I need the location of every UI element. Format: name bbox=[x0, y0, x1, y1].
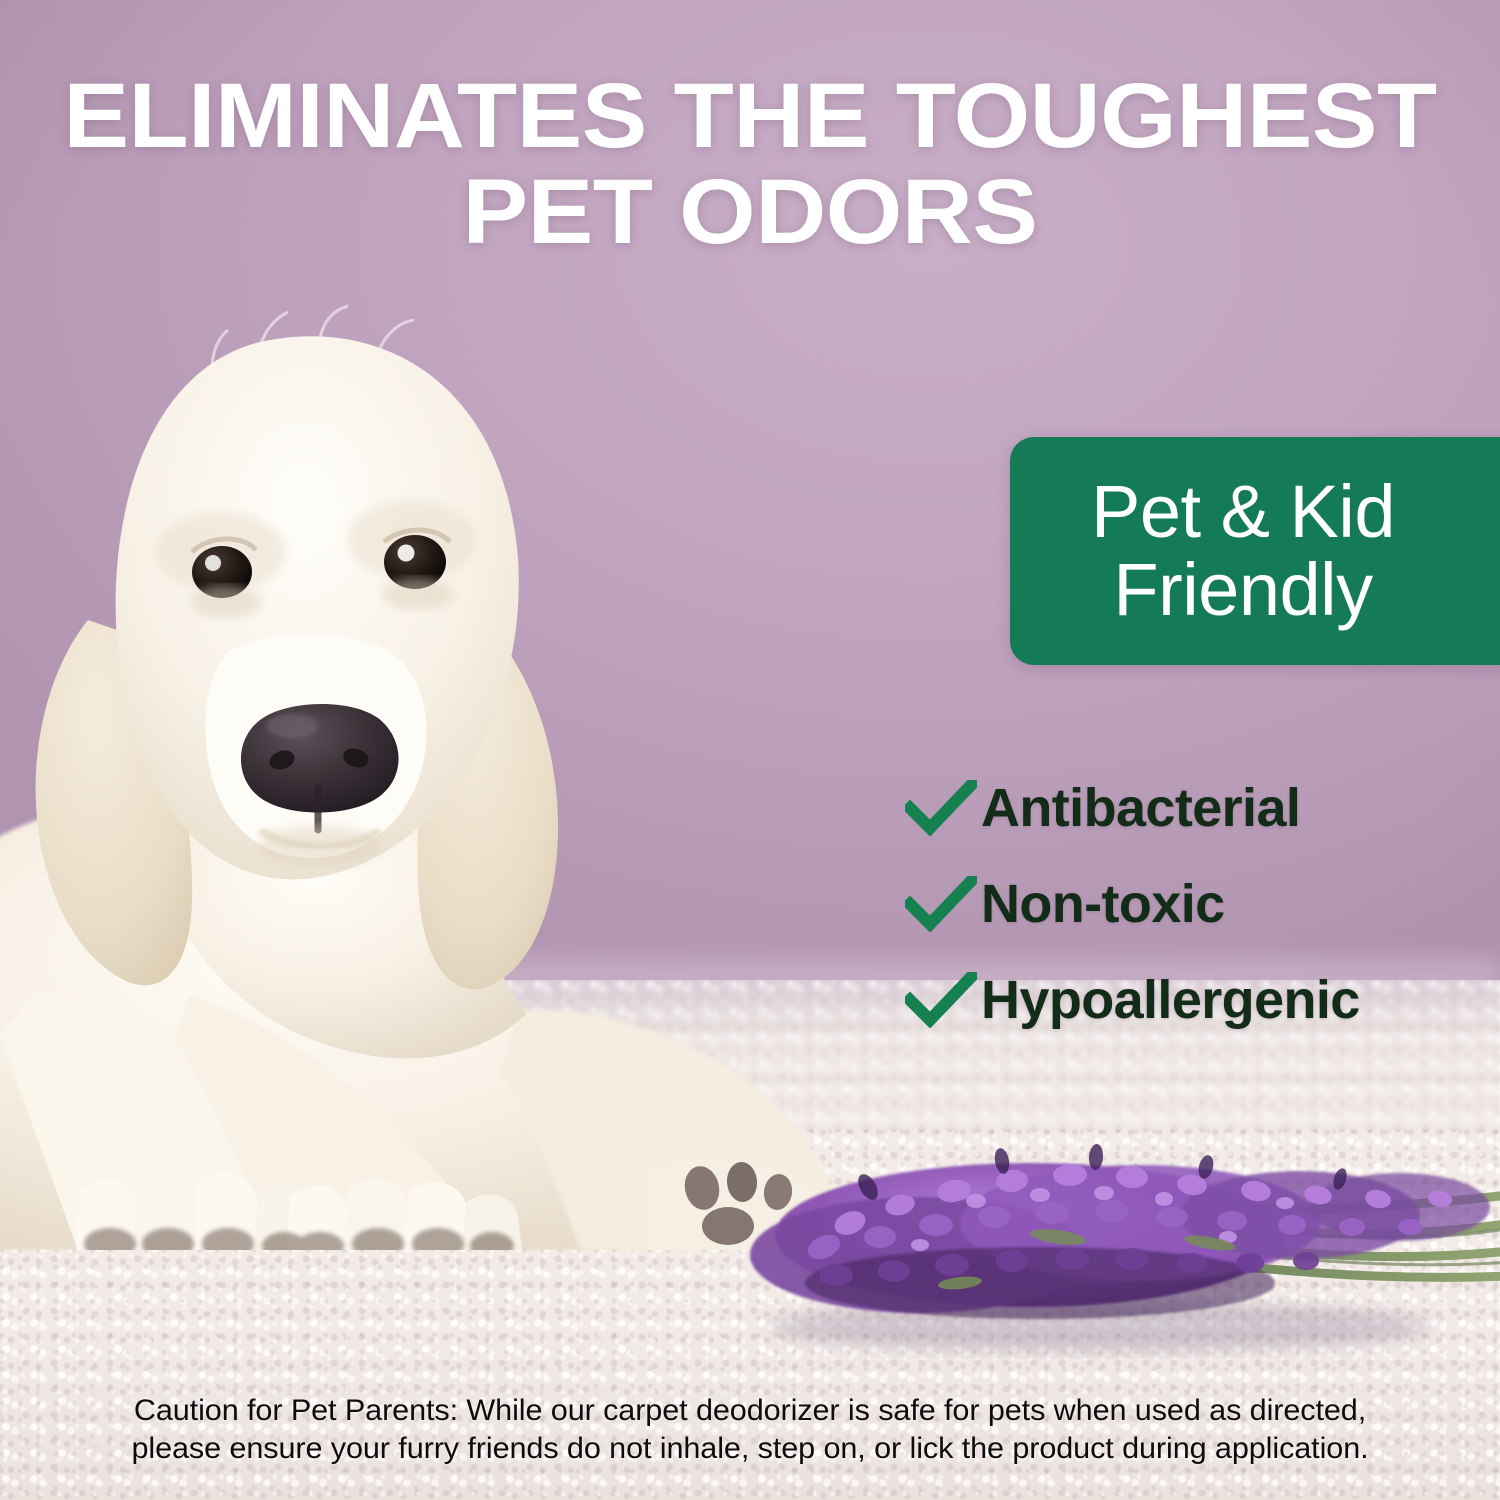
badge-line-2: Friendly bbox=[1091, 551, 1395, 629]
checkmark-icon bbox=[905, 876, 981, 932]
pet-kid-friendly-badge: Pet & Kid Friendly bbox=[1010, 437, 1500, 665]
feature-item-non-toxic: Non-toxic bbox=[905, 856, 1500, 952]
checkmark-icon bbox=[905, 780, 981, 836]
caption-line-2: please ensure your furry friends do not … bbox=[16, 1430, 1485, 1468]
headline-line-1: ELIMINATES THE TOUGHEST bbox=[0, 68, 1500, 164]
caution-caption: Caution for Pet Parents: While our carpe… bbox=[0, 1392, 1500, 1468]
caption-line-1: Caution for Pet Parents: While our carpe… bbox=[16, 1392, 1485, 1430]
headline-line-2: PET ODORS bbox=[0, 164, 1500, 260]
feature-label-hypoallergenic: Hypoallergenic bbox=[981, 971, 1360, 1029]
puppy-photo bbox=[0, 290, 860, 1250]
page-title: ELIMINATES THE TOUGHEST PET ODORS bbox=[0, 68, 1500, 260]
badge-text: Pet & Kid Friendly bbox=[1091, 473, 1429, 629]
feature-list: Antibacterial Non-toxic Hypoallergenic bbox=[905, 760, 1500, 1048]
feature-item-hypoallergenic: Hypoallergenic bbox=[905, 952, 1500, 1048]
feature-label-antibacterial: Antibacterial bbox=[981, 779, 1300, 837]
feature-item-antibacterial: Antibacterial bbox=[905, 760, 1500, 856]
product-marketing-image: ELIMINATES THE TOUGHEST PET ODORS Pet & … bbox=[0, 0, 1500, 1500]
feature-label-non-toxic: Non-toxic bbox=[981, 875, 1225, 933]
lavender-bundle bbox=[740, 1095, 1500, 1365]
badge-line-1: Pet & Kid bbox=[1091, 473, 1395, 551]
checkmark-icon bbox=[905, 972, 981, 1028]
